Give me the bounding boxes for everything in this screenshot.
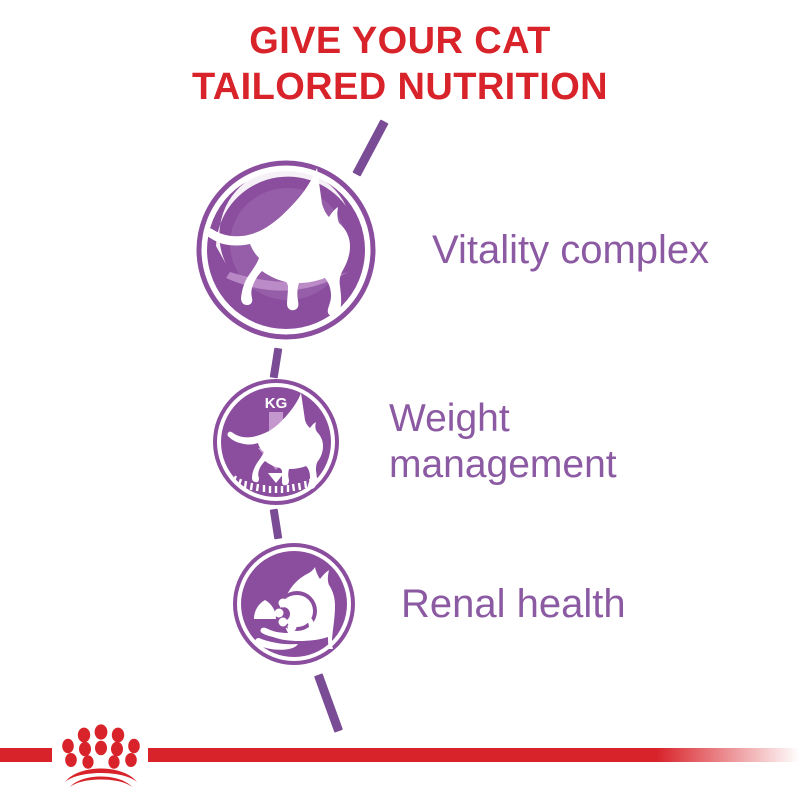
page-title-line-1: GIVE YOUR CAT [0, 18, 800, 64]
cat-kidney-icon [233, 543, 355, 665]
pack-benefits-panel: GIVE YOUR CAT TAILORED NUTRITION [0, 0, 800, 800]
royal-canin-crown-icon [55, 722, 147, 788]
cat-vitality-icon-svg [196, 160, 376, 340]
feature-label-renal-health: Renal health [401, 582, 626, 626]
connector-dash-weight-renal [270, 509, 283, 540]
cat-vitality-icon [196, 160, 376, 340]
cat-weight-scale-icon-svg: KG [213, 379, 339, 505]
feature-item-weight-management: KG [213, 379, 617, 505]
brand-rule-right [148, 748, 800, 762]
connector-dash-vitality-weight [270, 348, 283, 379]
kg-label: KG [265, 395, 288, 412]
feature-item-vitality-complex: Vitality complex [196, 160, 709, 340]
feature-label-weight-management: Weight management [389, 396, 617, 488]
page-title-line-2: TAILORED NUTRITION [0, 64, 800, 110]
connector-dash-bottom [314, 673, 343, 732]
royal-canin-crown-icon-svg [55, 722, 147, 788]
cat-kidney-icon-svg [233, 543, 355, 665]
cat-weight-scale-icon: KG [213, 379, 339, 505]
feature-item-renal-health: Renal health [233, 543, 626, 665]
page-title: GIVE YOUR CAT TAILORED NUTRITION [0, 18, 800, 110]
feature-label-vitality-complex: Vitality complex [432, 228, 709, 272]
brand-rule-left [0, 748, 52, 762]
